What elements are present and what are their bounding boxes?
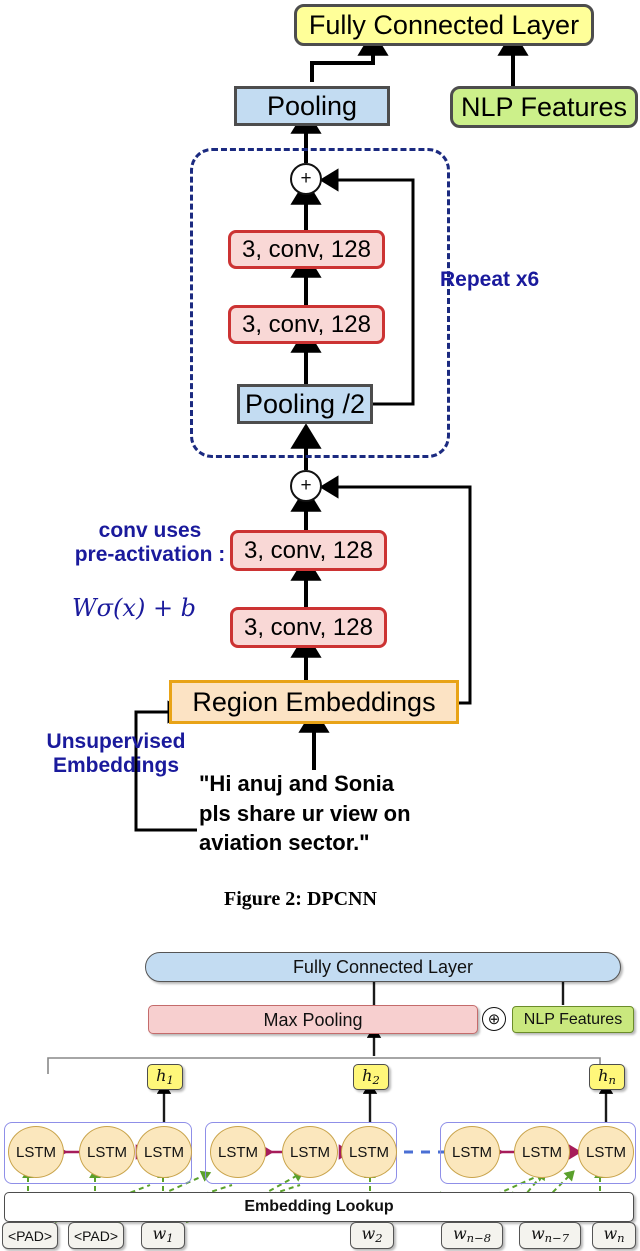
token-wn-7-label: wn−7 bbox=[531, 1226, 569, 1244]
lstm-cell-1-1-label: LSTM bbox=[16, 1144, 56, 1161]
lstm-cell-3-2-label: LSTM bbox=[522, 1144, 562, 1161]
fc-layer-label-blstm: Fully Connected Layer bbox=[293, 958, 473, 976]
concat-symbol: ⊕ bbox=[488, 1010, 501, 1028]
max-pooling-box[interactable]: Max Pooling bbox=[148, 1005, 478, 1034]
token-pad-2-label: <PAD> bbox=[74, 1229, 118, 1243]
token-w2-label: w2 bbox=[361, 1226, 382, 1244]
token-pad-1[interactable]: <PAD> bbox=[2, 1222, 58, 1249]
hidden-state-h1-label: h1 bbox=[156, 1068, 174, 1086]
token-pad-1-label: <PAD> bbox=[8, 1229, 52, 1243]
lstm-cell-2-2-label: LSTM bbox=[290, 1144, 330, 1161]
embedding-lookup-label: Embedding Lookup bbox=[244, 1199, 393, 1215]
token-pad-2[interactable]: <PAD> bbox=[68, 1222, 124, 1249]
lstm-cell-3-1[interactable]: LSTM bbox=[444, 1126, 500, 1178]
lstm-cell-1-2-label: LSTM bbox=[87, 1144, 127, 1161]
lstm-cell-1-3-label: LSTM bbox=[144, 1144, 184, 1161]
hidden-state-hn[interactable]: hn bbox=[589, 1064, 625, 1090]
nlp-features-box-blstm[interactable]: NLP Features bbox=[512, 1006, 634, 1033]
nlp-features-label-blstm: NLP Features bbox=[524, 1012, 622, 1028]
lstm-cell-3-3[interactable]: LSTM bbox=[578, 1126, 634, 1178]
lstm-cell-3-3-label: LSTM bbox=[586, 1144, 626, 1161]
lstm-cell-2-2[interactable]: LSTM bbox=[282, 1126, 338, 1178]
token-w1-label: w1 bbox=[152, 1226, 173, 1244]
hidden-state-h2-label: h2 bbox=[362, 1068, 380, 1086]
embedding-lookup-box[interactable]: Embedding Lookup bbox=[4, 1192, 634, 1222]
hidden-state-hn-label: hn bbox=[598, 1068, 616, 1086]
lstm-cell-1-1[interactable]: LSTM bbox=[8, 1126, 64, 1178]
token-wn[interactable]: wn bbox=[592, 1222, 636, 1249]
token-wn-8-label: wn−8 bbox=[453, 1226, 491, 1244]
fc-layer-box-blstm[interactable]: Fully Connected Layer bbox=[145, 952, 621, 982]
max-pooling-label: Max Pooling bbox=[263, 1011, 362, 1029]
token-wn-8[interactable]: wn−8 bbox=[441, 1222, 503, 1249]
hidden-state-h1[interactable]: h1 bbox=[147, 1064, 183, 1090]
concat-circle-icon: ⊕ bbox=[482, 1007, 506, 1031]
token-w1[interactable]: w1 bbox=[141, 1222, 185, 1249]
lstm-cell-1-2[interactable]: LSTM bbox=[79, 1126, 135, 1178]
blstm-figure: Fully Connected Layer Max Pooling ⊕ NLP … bbox=[0, 0, 640, 1251]
lstm-cell-1-3[interactable]: LSTM bbox=[136, 1126, 192, 1178]
token-w2[interactable]: w2 bbox=[350, 1222, 394, 1249]
blstm-connectors bbox=[0, 0, 640, 1251]
lstm-cell-2-3[interactable]: LSTM bbox=[341, 1126, 397, 1178]
lstm-cell-2-1-label: LSTM bbox=[218, 1144, 258, 1161]
lstm-cell-3-2[interactable]: LSTM bbox=[514, 1126, 570, 1178]
lstm-cell-2-1[interactable]: LSTM bbox=[210, 1126, 266, 1178]
lstm-cell-3-1-label: LSTM bbox=[452, 1144, 492, 1161]
token-wn-7[interactable]: wn−7 bbox=[519, 1222, 581, 1249]
token-wn-label: wn bbox=[603, 1226, 624, 1244]
hidden-state-h2[interactable]: h2 bbox=[353, 1064, 389, 1090]
lstm-cell-2-3-label: LSTM bbox=[349, 1144, 389, 1161]
